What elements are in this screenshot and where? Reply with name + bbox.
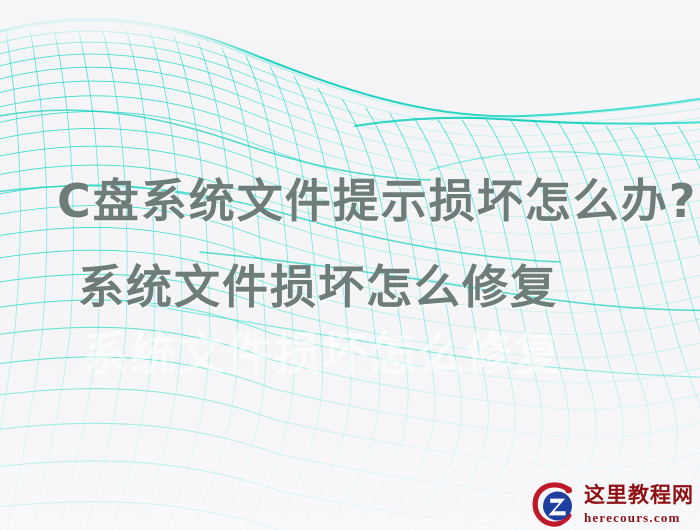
brand-url: herecours.com <box>584 511 694 524</box>
brand-name-cn: 这里教程网 <box>584 485 694 506</box>
cover-image-canvas: 系统文件损坏怎么修复 C盘系统文件提示损坏怎么办? 系统文件损坏怎么修复 这里教… <box>0 0 700 530</box>
brand-logo-icon <box>532 482 578 528</box>
site-watermark: 这里教程网 herecours.com <box>532 482 694 528</box>
wireframe-terrain-mesh <box>0 0 700 530</box>
brand-text-group: 这里教程网 herecours.com <box>584 485 694 526</box>
